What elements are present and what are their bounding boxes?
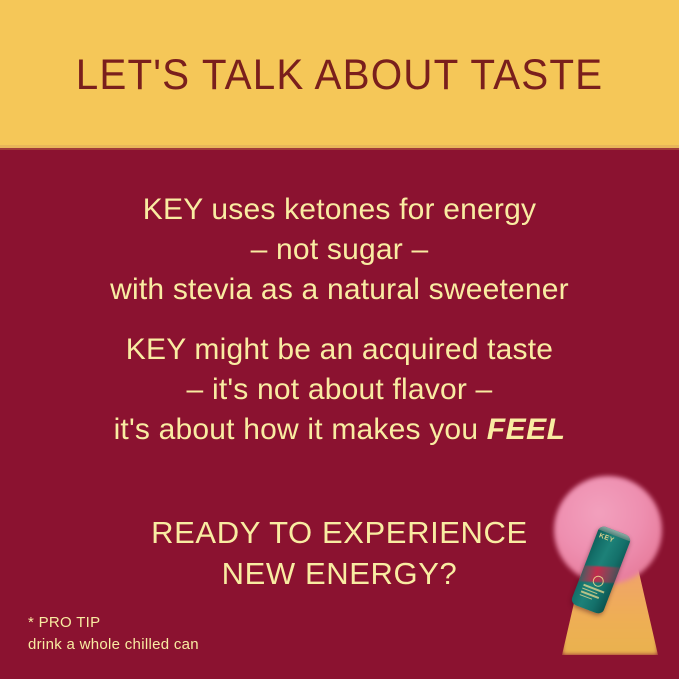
paragraph-2-line-1: KEY might be an acquired taste	[0, 330, 679, 370]
page-title: LET'S TALK ABOUT TASTE	[20, 50, 658, 100]
paragraph-2-line-3-prefix: it's about how it makes you	[114, 413, 487, 446]
paragraph-1-line-1: KEY uses ketones for energy	[0, 190, 679, 230]
header-divider-dark	[0, 148, 679, 150]
protip-text: drink a whole chilled can	[28, 634, 199, 656]
poster-canvas: LET'S TALK ABOUT TASTE KEY uses ketones …	[0, 0, 679, 679]
paragraph-ketones: KEY uses ketones for energy – not sugar …	[0, 190, 679, 310]
protip-block: * PRO TIP drink a whole chilled can	[28, 612, 199, 656]
paragraph-1-line-3: with stevia as a natural sweetener	[0, 270, 679, 310]
paragraph-2-line-3: it's about how it makes you FEEL	[0, 410, 679, 450]
can-fineprint	[579, 584, 605, 605]
paragraph-2-line-2: – it's not about flavor –	[0, 370, 679, 410]
keyhole-graphic: KEY	[540, 470, 679, 665]
paragraph-1-line-2: – not sugar –	[0, 230, 679, 270]
paragraph-2-emphasis-feel: FEEL	[487, 413, 566, 446]
protip-label: * PRO TIP	[28, 612, 199, 634]
paragraph-acquired-taste: KEY might be an acquired taste – it's no…	[0, 330, 679, 450]
